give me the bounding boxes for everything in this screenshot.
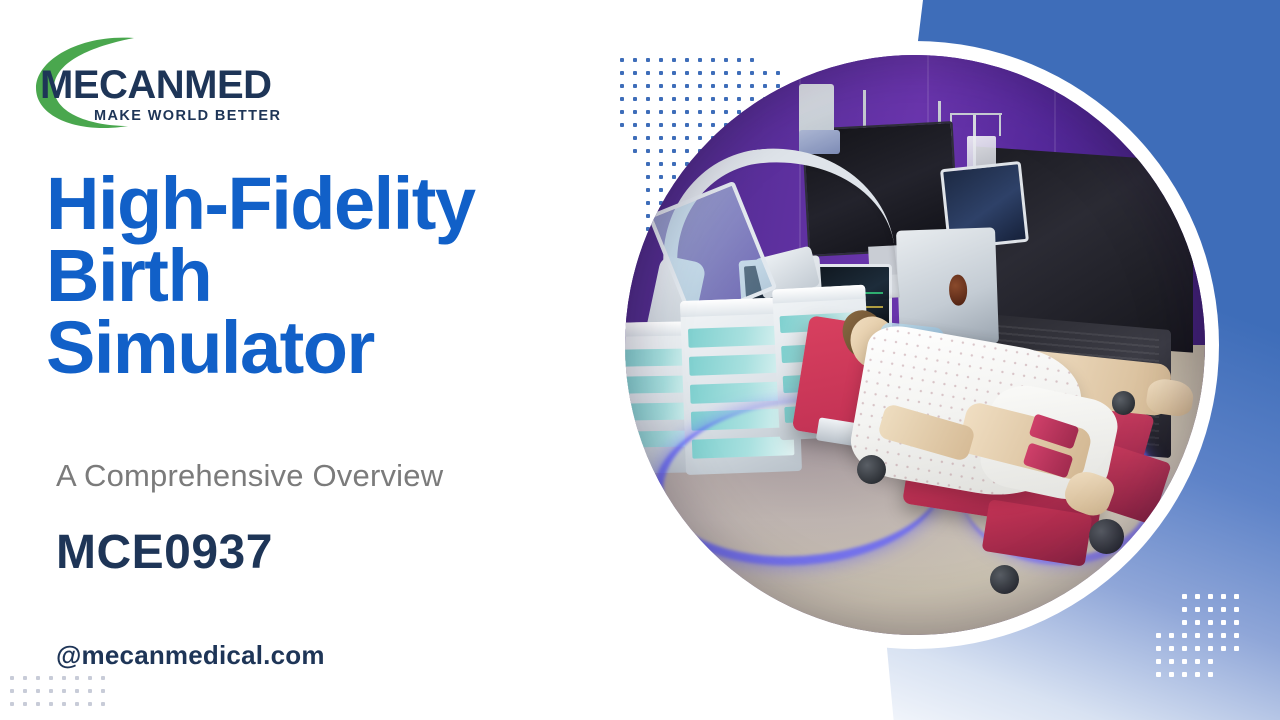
cart-wheel [1112, 391, 1135, 414]
vaporizer-dial [948, 275, 967, 306]
dot [1182, 672, 1187, 677]
dot [1169, 659, 1174, 664]
dot [1195, 646, 1200, 651]
dot [88, 689, 92, 693]
model-number: MCE0937 [56, 525, 273, 580]
dot [1182, 633, 1187, 638]
dot [23, 689, 27, 693]
dot [36, 676, 40, 680]
dot [1195, 659, 1200, 664]
headline-line-1: High-Fidelity [46, 168, 606, 240]
page-subtitle: A Comprehensive Overview [56, 458, 443, 494]
website-handle[interactable]: @mecanmedical.com [56, 640, 325, 671]
dot [1182, 594, 1187, 599]
dot [1208, 633, 1213, 638]
dot [101, 702, 105, 706]
dot [1208, 659, 1213, 664]
dot [1221, 607, 1226, 612]
dot [75, 689, 79, 693]
dot [1221, 633, 1226, 638]
dot [1182, 607, 1187, 612]
dot [1234, 646, 1239, 651]
ceiling-column-joint [799, 130, 840, 153]
dot [75, 676, 79, 680]
dot [10, 689, 14, 693]
headline-line-2: Birth [46, 240, 606, 312]
dot [620, 71, 624, 75]
iv-hook [950, 113, 1002, 115]
dot [620, 58, 624, 62]
dot [1182, 620, 1187, 625]
logo-svg: MECANMED MAKE WORLD BETTER [22, 26, 322, 136]
dot [1182, 646, 1187, 651]
dot [1156, 659, 1161, 664]
dot [36, 702, 40, 706]
dot [1221, 646, 1226, 651]
bed-wheel [857, 455, 886, 484]
dot [62, 689, 66, 693]
dot [10, 676, 14, 680]
dot [49, 676, 53, 680]
dot [1156, 646, 1161, 651]
dot [620, 84, 624, 88]
dot [23, 676, 27, 680]
dot [101, 689, 105, 693]
dot [620, 97, 624, 101]
dot [1156, 672, 1161, 677]
dot-pattern-bottom-left [10, 676, 130, 720]
dot [49, 689, 53, 693]
dot [49, 702, 53, 706]
dot [1208, 620, 1213, 625]
bed-wheel [1089, 519, 1124, 554]
dot [620, 110, 624, 114]
page-title: High-Fidelity Birth Simulator [46, 168, 606, 383]
dot-pattern-bottom-right [1156, 594, 1256, 694]
dot [62, 676, 66, 680]
dot [88, 702, 92, 706]
dot [1221, 594, 1226, 599]
headline-line-3: Simulator [46, 312, 606, 384]
dot [1208, 594, 1213, 599]
dot [23, 702, 27, 706]
dot [88, 676, 92, 680]
product-photo [625, 55, 1205, 635]
dot [36, 689, 40, 693]
dot [1234, 633, 1239, 638]
logo-tagline: MAKE WORLD BETTER [94, 108, 281, 124]
dot [1195, 620, 1200, 625]
dot [75, 702, 79, 706]
dot [1156, 633, 1161, 638]
dot [1195, 672, 1200, 677]
dot [1234, 607, 1239, 612]
dot [1195, 607, 1200, 612]
brand-logo[interactable]: MECANMED MAKE WORLD BETTER [22, 26, 322, 136]
dot [1234, 594, 1239, 599]
dot [1169, 633, 1174, 638]
photo-scene [625, 55, 1205, 635]
dot [1169, 672, 1174, 677]
dot [1169, 646, 1174, 651]
dot [62, 702, 66, 706]
dot [101, 676, 105, 680]
presentation-slide: MECANMED MAKE WORLD BETTER High-Fidelity… [0, 0, 1280, 720]
dot [1195, 633, 1200, 638]
slide-content: MECANMED MAKE WORLD BETTER High-Fidelity… [0, 0, 620, 720]
dot [1208, 607, 1213, 612]
dot [1221, 620, 1226, 625]
dot [620, 123, 624, 127]
iv-hook-right [999, 113, 1001, 136]
dot [1234, 620, 1239, 625]
dot [10, 702, 14, 706]
logo-wordmark: MECANMED [40, 63, 272, 107]
dot [1182, 659, 1187, 664]
dot [1208, 646, 1213, 651]
dot [1195, 594, 1200, 599]
dot [1208, 672, 1213, 677]
